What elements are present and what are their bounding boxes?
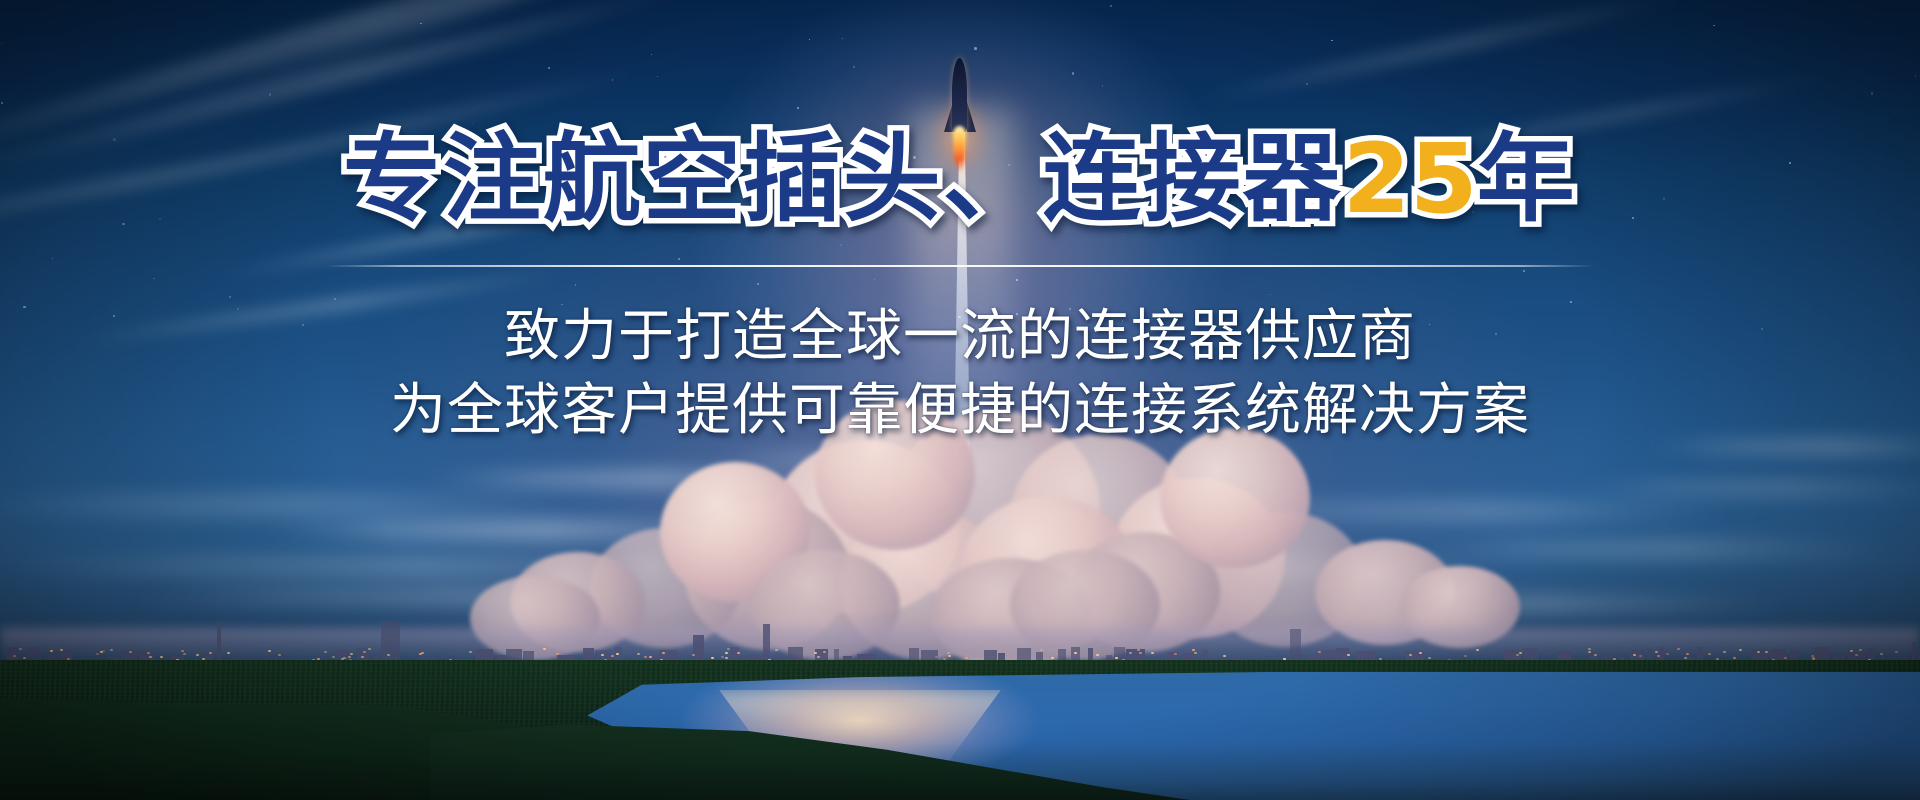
rocket-body xyxy=(952,58,967,132)
hero-banner: 专注航空插头、连接器25年 致力于打造全球一流的连接器供应商 为全球客户提供可靠… xyxy=(0,0,1920,800)
banner-subtitle-line-1: 致力于打造全球一流的连接器供应商 xyxy=(504,303,1416,369)
headline-divider xyxy=(325,265,1595,267)
banner-subtitle-line-2: 为全球客户提供可靠便捷的连接系统解决方案 xyxy=(390,377,1530,443)
headline-years-number: 25 xyxy=(1343,123,1477,235)
headline-segment-year-unit: 年 xyxy=(1477,123,1577,235)
headline-segment-1: 专注航空插头、连接器 xyxy=(343,123,1343,235)
banner-headline: 专注航空插头、连接器25年 xyxy=(343,131,1577,227)
